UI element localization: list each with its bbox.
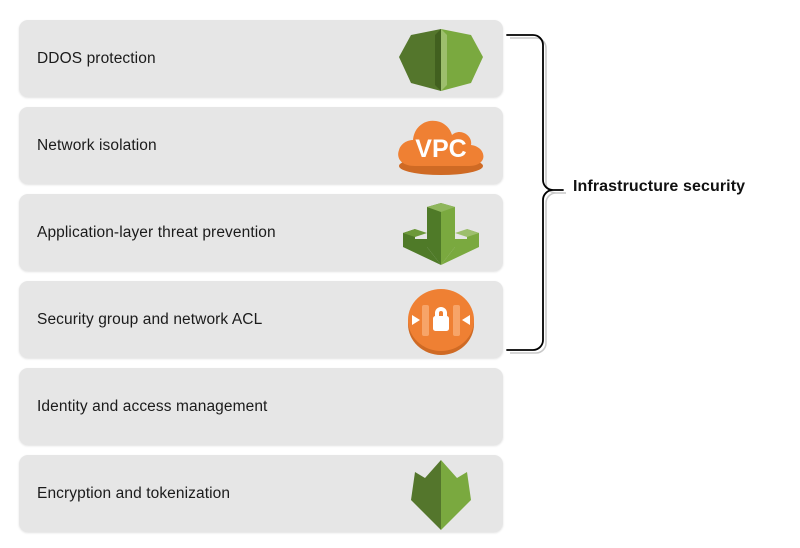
row-label: Application-layer threat prevention xyxy=(37,224,276,242)
row-encryption-and-tokenization[interactable]: Encryption and tokenization xyxy=(19,455,503,532)
row-label: Identity and access management xyxy=(37,398,267,416)
security-group-lock-icon xyxy=(393,282,489,358)
group-bracket-label: Infrastructure security xyxy=(573,178,745,196)
row-application-layer-threat-prevention[interactable]: Application-layer threat prevention xyxy=(19,194,503,271)
row-security-group-and-network-acl[interactable]: Security group and network ACL xyxy=(19,281,503,358)
row-identity-and-access-management[interactable]: Identity and access management xyxy=(19,368,503,445)
infrastructure-security-diagram: DDOS protection Network isolation VPC xyxy=(0,0,800,548)
row-ddos-protection[interactable]: DDOS protection xyxy=(19,20,503,97)
waf-down-arrow-icon xyxy=(393,195,489,271)
vpc-cloud-icon: VPC xyxy=(393,108,489,184)
vpc-icon-text: VPC xyxy=(415,135,466,163)
group-bracket xyxy=(505,20,575,365)
row-label: Encryption and tokenization xyxy=(37,485,230,503)
row-label: DDOS protection xyxy=(37,50,156,68)
row-label: Network isolation xyxy=(37,137,157,155)
row-label: Security group and network ACL xyxy=(37,311,262,329)
kms-shield-icon xyxy=(393,456,489,532)
row-network-isolation[interactable]: Network isolation VPC xyxy=(19,107,503,184)
aws-shield-icon xyxy=(393,21,489,97)
